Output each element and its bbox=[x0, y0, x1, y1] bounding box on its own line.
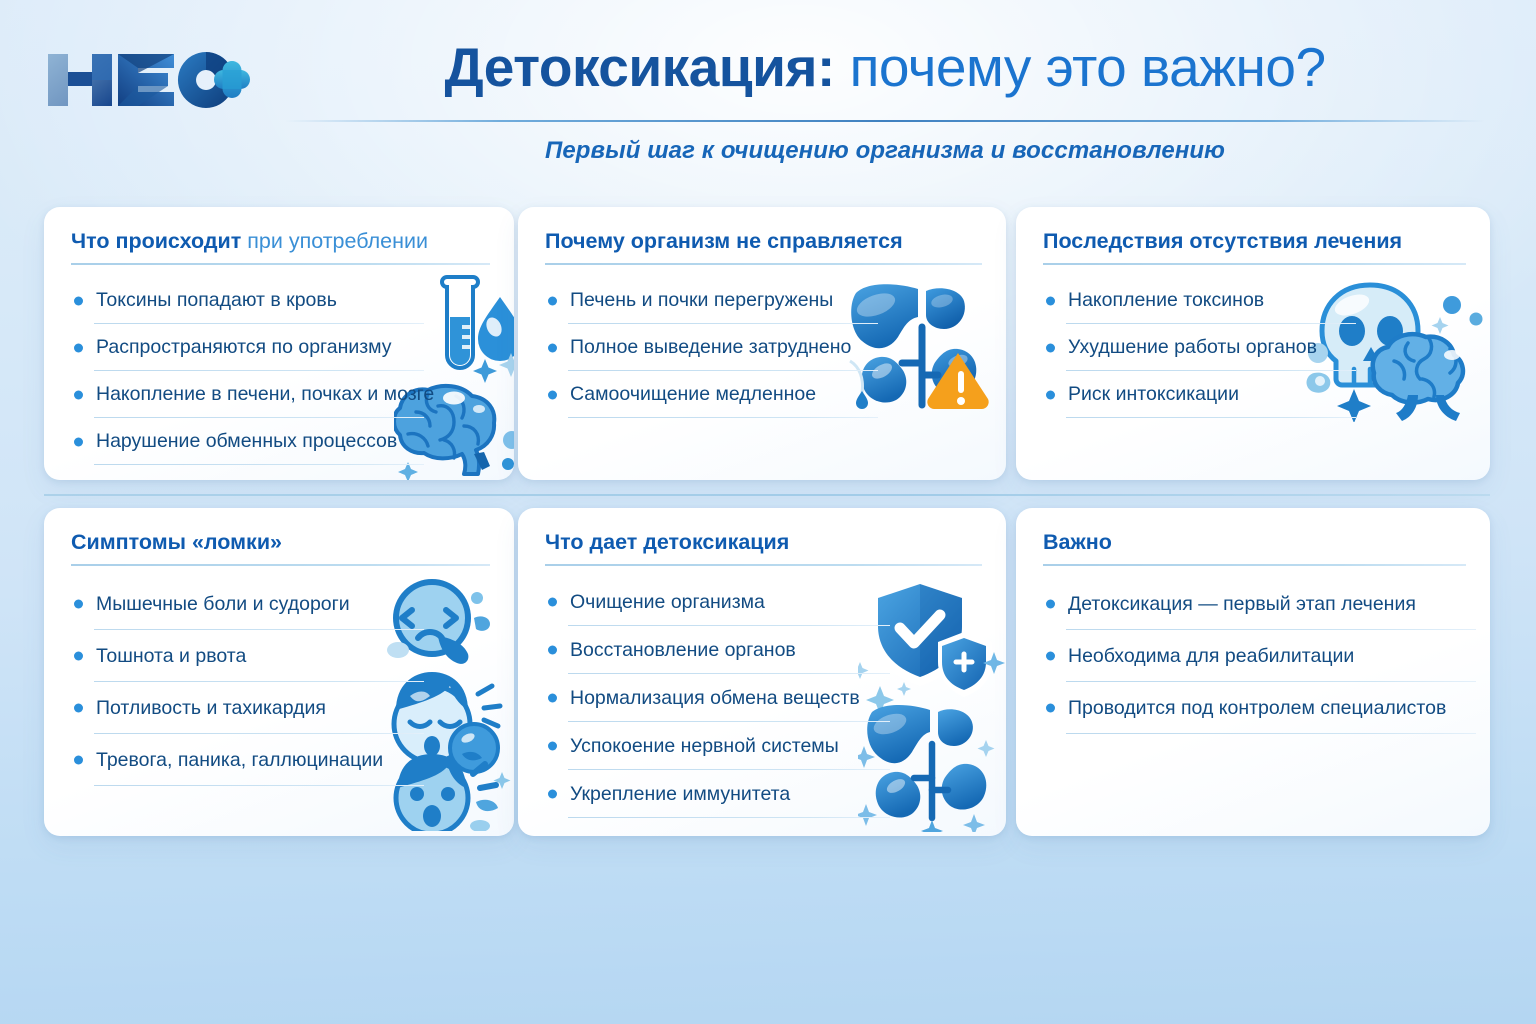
list-item-label: Тошнота и рвота bbox=[96, 630, 246, 682]
list-item-underline bbox=[94, 785, 424, 787]
page-title-light: почему это важно? bbox=[835, 36, 1326, 98]
list-item-label: Восстановление органов bbox=[570, 626, 796, 674]
list-item: Самоочищение медленное bbox=[544, 371, 986, 418]
infographic-page: Детоксикация: почему это важно? Первый ш… bbox=[0, 0, 1536, 1024]
list-item-label: Нормализация обмена веществ bbox=[570, 674, 860, 722]
row-divider bbox=[44, 494, 1490, 496]
list-item-label: Распространяются по организму bbox=[96, 324, 392, 371]
list-item-label: Проводится под контролем специалистов bbox=[1068, 682, 1446, 734]
card-heading-strong: Почему организм не справляется bbox=[545, 229, 903, 253]
list-item: Печень и почки перегружены bbox=[544, 277, 986, 324]
bullet-icon bbox=[1046, 704, 1055, 713]
list-item: Очищение организма bbox=[544, 578, 986, 626]
list-item-label: Детоксикация — первый этап лечения bbox=[1068, 578, 1416, 630]
bullet-icon bbox=[74, 704, 83, 713]
page-subtitle: Первый шаг к очищению организма и восста… bbox=[285, 137, 1485, 165]
list-item-underline bbox=[94, 464, 424, 466]
title-divider bbox=[285, 120, 1485, 122]
bullet-icon bbox=[548, 598, 557, 607]
bullet-icon bbox=[548, 694, 557, 703]
list-item: Риск интоксикации bbox=[1042, 371, 1470, 418]
list-item: Распространяются по организму bbox=[70, 324, 494, 371]
bullet-icon bbox=[548, 296, 557, 305]
list-item-label: Самоочищение медленное bbox=[570, 371, 816, 418]
list-item: Тревога, паника, галлюцинации bbox=[70, 734, 494, 786]
list-item-label: Ухудшение работы органов bbox=[1068, 324, 1317, 371]
card-heading: Важно bbox=[1043, 530, 1466, 555]
list-item-underline bbox=[1066, 733, 1476, 735]
bullet-icon bbox=[548, 646, 557, 655]
page-title: Детоксикация: почему это важно? bbox=[280, 36, 1490, 98]
card-what-happens: Что происходит при употреблении bbox=[44, 207, 514, 480]
list-item: Накопление в печени, почках и мозге bbox=[70, 371, 494, 418]
list-item: Мышечные боли и судороги bbox=[70, 578, 494, 630]
card-list: Печень и почки перегружены Полное выведе… bbox=[544, 277, 986, 418]
list-item: Ухудшение работы органов bbox=[1042, 324, 1470, 371]
list-item-label: Потливость и тахикардия bbox=[96, 682, 326, 734]
card-important: Важно Детоксикация — первый этап лечения… bbox=[1016, 508, 1490, 836]
list-item: Детоксикация — первый этап лечения bbox=[1042, 578, 1470, 630]
list-item: Восстановление органов bbox=[544, 626, 986, 674]
card-heading-divider bbox=[1043, 263, 1466, 265]
card-heading-light: при употреблении bbox=[241, 229, 428, 253]
card-row-1: Что происходит при употреблении bbox=[0, 207, 1536, 482]
bullet-icon bbox=[1046, 390, 1055, 399]
card-row-2: Симптомы «ломки» bbox=[0, 508, 1536, 838]
card-heading: Симптомы «ломки» bbox=[71, 530, 490, 555]
bullet-icon bbox=[74, 652, 83, 661]
card-list: Детоксикация — первый этап лечения Необх… bbox=[1042, 578, 1470, 734]
card-heading-strong: Что дает детоксикация bbox=[545, 530, 789, 554]
card-heading-strong: Последствия отсутствия лечения bbox=[1043, 229, 1402, 253]
card-heading-divider bbox=[1043, 564, 1466, 566]
card-withdrawal-symptoms: Симптомы «ломки» bbox=[44, 508, 514, 836]
list-item-label: Накопление в печени, почках и мозге bbox=[96, 371, 434, 418]
list-item: Накопление токсинов bbox=[1042, 277, 1470, 324]
bullet-icon bbox=[74, 296, 83, 305]
bullet-icon bbox=[1046, 343, 1055, 352]
list-item: Проводится под контролем специалистов bbox=[1042, 682, 1470, 734]
list-item-underline bbox=[568, 817, 890, 819]
card-list: Мышечные боли и судороги Тошнота и рвота… bbox=[70, 578, 494, 786]
list-item: Тошнота и рвота bbox=[70, 630, 494, 682]
list-item: Потливость и тахикардия bbox=[70, 682, 494, 734]
list-item-label: Укрепление иммунитета bbox=[570, 770, 790, 818]
list-item: Нормализация обмена веществ bbox=[544, 674, 986, 722]
card-list: Токсины попадают в кровь Распространяютс… bbox=[70, 277, 494, 465]
card-heading: Что дает детоксикация bbox=[545, 530, 982, 555]
card-heading-divider bbox=[71, 263, 490, 265]
bullet-icon bbox=[74, 343, 83, 352]
bullet-icon bbox=[1046, 652, 1055, 661]
bullet-icon bbox=[74, 437, 83, 446]
card-consequences: Последствия отсутствия лечения bbox=[1016, 207, 1490, 480]
bullet-icon bbox=[74, 390, 83, 399]
list-item-label: Необходима для реабилитации bbox=[1068, 630, 1354, 682]
card-detox-benefits: Что дает детоксикация bbox=[518, 508, 1006, 836]
list-item: Необходима для реабилитации bbox=[1042, 630, 1470, 682]
list-item: Укрепление иммунитета bbox=[544, 770, 986, 818]
card-heading: Что происходит при употреблении bbox=[71, 229, 490, 254]
list-item-label: Мышечные боли и судороги bbox=[96, 578, 350, 630]
card-heading-strong: Важно bbox=[1043, 530, 1112, 554]
bullet-icon bbox=[74, 756, 83, 765]
page-title-strong: Детоксикация: bbox=[444, 36, 834, 98]
list-item-label: Печень и почки перегружены bbox=[570, 277, 833, 324]
bullet-icon bbox=[548, 390, 557, 399]
list-item: Токсины попадают в кровь bbox=[70, 277, 494, 324]
list-item: Полное выведение затруднено bbox=[544, 324, 986, 371]
list-item: Успокоение нервной системы bbox=[544, 722, 986, 770]
bullet-icon bbox=[548, 790, 557, 799]
header: Детоксикация: почему это важно? Первый ш… bbox=[0, 0, 1536, 190]
list-item-label: Накопление токсинов bbox=[1068, 277, 1264, 324]
list-item-underline bbox=[568, 417, 878, 419]
card-heading-divider bbox=[545, 564, 982, 566]
card-list: Очищение организма Восстановление органо… bbox=[544, 578, 986, 818]
card-heading: Последствия отсутствия лечения bbox=[1043, 229, 1466, 254]
card-list: Накопление токсинов Ухудшение работы орг… bbox=[1042, 277, 1470, 418]
list-item-label: Токсины попадают в кровь bbox=[96, 277, 337, 324]
card-heading-strong: Симптомы «ломки» bbox=[71, 530, 282, 554]
bullet-icon bbox=[548, 343, 557, 352]
card-why-body-fails: Почему организм не справляется bbox=[518, 207, 1006, 480]
neo-plus-logo bbox=[46, 46, 251, 112]
list-item-label: Тревога, паника, галлюцинации bbox=[96, 734, 383, 786]
list-item-underline bbox=[1066, 417, 1356, 419]
bullet-icon bbox=[74, 600, 83, 609]
list-item-label: Нарушение обменных процессов bbox=[96, 418, 397, 465]
list-item: Нарушение обменных процессов bbox=[70, 418, 494, 465]
list-item-label: Успокоение нервной системы bbox=[570, 722, 839, 770]
card-heading-divider bbox=[545, 263, 982, 265]
bullet-icon bbox=[1046, 296, 1055, 305]
list-item-label: Риск интоксикации bbox=[1068, 371, 1239, 418]
bullet-icon bbox=[548, 742, 557, 751]
card-heading: Почему организм не справляется bbox=[545, 229, 982, 254]
card-heading-strong: Что происходит bbox=[71, 229, 241, 253]
bullet-icon bbox=[1046, 600, 1055, 609]
list-item-label: Полное выведение затруднено bbox=[570, 324, 851, 371]
list-item-label: Очищение организма bbox=[570, 578, 765, 626]
card-heading-divider bbox=[71, 564, 490, 566]
